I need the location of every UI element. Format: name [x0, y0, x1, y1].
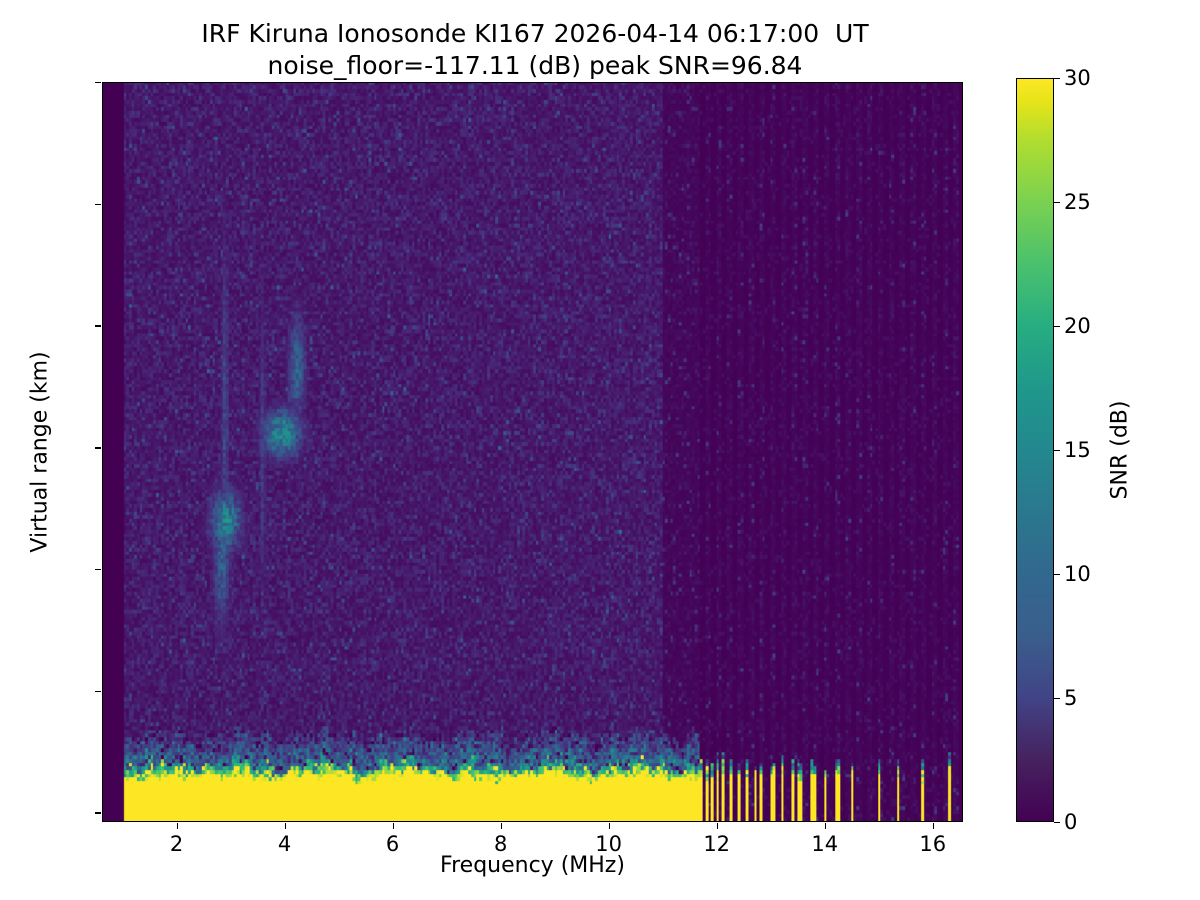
title-line-1: IRF Kiruna Ionosonde KI167 2026-04-14 06… [0, 18, 1070, 50]
colorbar-tick-label: 15 [1064, 438, 1091, 462]
x-tick-mark [825, 823, 826, 829]
y-tick-mark [95, 325, 101, 326]
colorbar-tick-label: 0 [1064, 810, 1077, 834]
y-tick-mark [95, 812, 101, 813]
ionogram-figure: IRF Kiruna Ionosonde KI167 2026-04-14 06… [0, 0, 1200, 900]
x-tick-mark [177, 823, 178, 829]
colorbar-tick-label: 10 [1064, 562, 1091, 586]
y-tick-mark [95, 569, 101, 570]
colorbar-label: SNR (dB) [1108, 401, 1133, 500]
y-axis-label: Virtual range (km) [28, 351, 53, 552]
title-line-2: noise_floor=-117.11 (dB) peak SNR=96.84 [0, 50, 1070, 82]
y-tick-mark [95, 204, 101, 205]
colorbar-tick-mark [1054, 822, 1060, 823]
colorbar-tick-label: 5 [1064, 686, 1077, 710]
ionogram-axes [102, 82, 963, 822]
x-tick-mark [717, 823, 718, 829]
colorbar-tick-mark [1054, 574, 1060, 575]
colorbar-tick-label: 20 [1064, 314, 1091, 338]
x-tick-mark [501, 823, 502, 829]
colorbar-tick-mark [1054, 698, 1060, 699]
colorbar [1016, 78, 1054, 822]
ionogram-heatmap [103, 83, 962, 821]
colorbar-tick-mark [1054, 78, 1060, 79]
y-tick-mark [95, 447, 101, 448]
y-tick-mark [95, 691, 101, 692]
colorbar-tick-mark [1054, 450, 1060, 451]
x-tick-mark [933, 823, 934, 829]
x-tick-mark [285, 823, 286, 829]
x-axis-label: Frequency (MHz) [102, 853, 963, 878]
page-title: IRF Kiruna Ionosonde KI167 2026-04-14 06… [0, 18, 1070, 82]
y-tick-mark [95, 82, 101, 83]
colorbar-tick-mark [1054, 202, 1060, 203]
colorbar-tick-label: 30 [1064, 66, 1091, 90]
x-tick-mark [609, 823, 610, 829]
x-tick-mark [393, 823, 394, 829]
y-axis-label-wrap: Virtual range (km) [18, 82, 44, 822]
colorbar-tick-mark [1054, 326, 1060, 327]
colorbar-tick-label: 25 [1064, 190, 1091, 214]
